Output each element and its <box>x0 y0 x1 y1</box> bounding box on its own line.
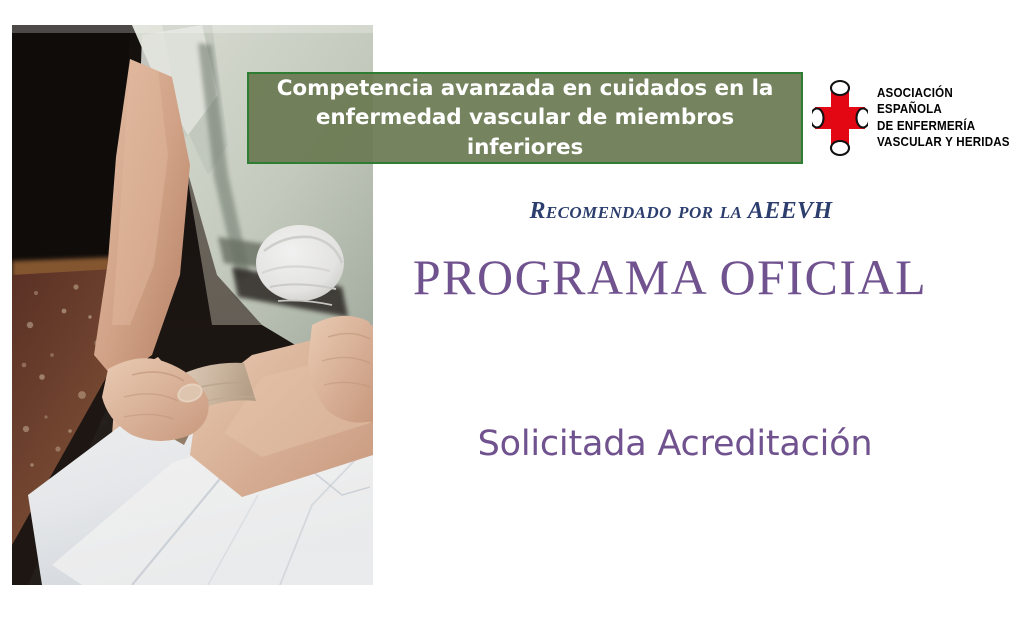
logo-line-4: VASCULAR Y HERIDAS <box>877 135 1010 150</box>
vascular-cross-icon <box>812 79 868 157</box>
course-title-banner: Competencia avanzada en cuidados en la e… <box>247 72 803 164</box>
slide-canvas: Competencia avanzada en cuidados en la e… <box>0 0 1024 620</box>
recommendation-text: Recomendado por la AEEVH <box>370 198 992 225</box>
logo-line-3: DE ENFERMERÍA <box>877 119 1010 134</box>
logo-line-1: ASOCIACIÓN <box>877 86 1010 101</box>
page-title: PROGRAMA OFICIAL <box>370 251 970 304</box>
aeevh-logo: ASOCIACIÓN ESPAÑOLA DE ENFERMERÍA VASCUL… <box>812 76 1010 160</box>
aeevh-logo-text: ASOCIACIÓN ESPAÑOLA DE ENFERMERÍA VASCUL… <box>877 86 1021 150</box>
course-title-text: Competencia avanzada en cuidados en la e… <box>249 74 801 163</box>
accreditation-status: Solicitada Acreditación <box>370 424 980 464</box>
logo-line-2: ESPAÑOLA <box>877 102 1010 117</box>
